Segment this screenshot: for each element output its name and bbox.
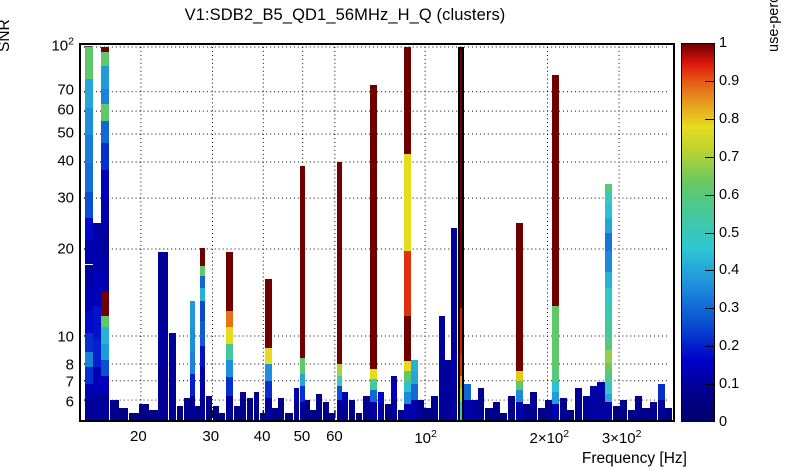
histogram-bar [93, 223, 101, 422]
bar-segment [206, 396, 212, 422]
bar-segment [552, 392, 559, 404]
histogram-bar [478, 388, 485, 422]
bar-segment [552, 75, 559, 305]
x-axis-title: Frequency [Hz] [582, 450, 687, 468]
bar-segment [85, 163, 93, 191]
bar-segment [460, 49, 462, 308]
bar-segment [158, 367, 167, 422]
bar-segment [85, 352, 93, 367]
histogram-bar [129, 413, 139, 422]
histogram-bar [464, 384, 470, 422]
bar-segment [567, 410, 574, 422]
histogram-bar [500, 413, 507, 422]
bar-segment [85, 47, 93, 60]
bar-segment [294, 402, 300, 422]
bar-segment [101, 344, 109, 359]
bar-segment [85, 384, 93, 399]
histogram-bar [206, 396, 212, 422]
bar-segment [93, 394, 101, 422]
bar-segment [226, 344, 233, 359]
page-title: V1:SDB2_B5_QD1_56MHz_H_Q (clusters) [0, 6, 690, 25]
bar-segment [93, 367, 101, 393]
colorbar-tick-label: 0.9 [719, 73, 739, 89]
histogram-bar [620, 400, 627, 422]
histogram-bar [226, 252, 233, 422]
x-axis-tick-label: 50 [294, 428, 311, 445]
histogram-bar [177, 406, 183, 422]
bar-segment [101, 258, 109, 292]
histogram-bar [485, 408, 492, 422]
bar-segment [260, 413, 265, 422]
bar-segment [265, 364, 271, 380]
histogram-bar [378, 392, 385, 422]
histogram-bar [635, 396, 642, 422]
histogram-bar [583, 396, 590, 422]
histogram-bar [272, 408, 278, 422]
bar-segment [605, 337, 612, 350]
bar-segment [605, 402, 612, 422]
colorbar-tick [705, 157, 715, 158]
histogram-bar [613, 406, 620, 422]
bar-segment [597, 382, 604, 397]
bar-segment [101, 89, 109, 104]
bar-segment [85, 218, 93, 239]
histogram-bar [110, 400, 119, 422]
bar-segment [605, 184, 612, 192]
histogram-bar [285, 413, 292, 422]
colorbar-tick-label: 0.8 [719, 111, 739, 127]
bar-segment [190, 352, 195, 373]
bar-segment [460, 402, 462, 422]
bar-segment [85, 108, 93, 135]
bar-segment [628, 410, 635, 422]
histogram-bar [310, 410, 315, 422]
histogram-bar [665, 408, 672, 422]
histogram-bar [119, 408, 128, 422]
bar-segment [478, 388, 485, 422]
colorbar-tick [705, 233, 715, 234]
bar-segment [101, 316, 109, 327]
bar-segment [323, 402, 329, 422]
bar-segment [305, 400, 310, 422]
bar-segment [93, 339, 101, 367]
bar-segment [190, 301, 195, 327]
bar-segment [500, 413, 507, 422]
histogram-bar [294, 388, 300, 422]
x-axis-tick-label: 102 [414, 428, 437, 447]
histogram-bar [149, 410, 158, 422]
colorbar-tick [705, 308, 715, 309]
bar-segment [451, 352, 457, 384]
bar-segment [85, 79, 93, 108]
y-axis-tick-label: 50 [57, 124, 74, 141]
bar-segment [272, 408, 278, 422]
bar-segment [93, 306, 101, 339]
bar-segment [85, 60, 93, 78]
bar-segment [101, 170, 109, 200]
histogram-bar [385, 404, 391, 422]
y-axis-tick-label: 30 [57, 189, 74, 206]
colorbar-tick [705, 384, 715, 385]
bar-segment [169, 333, 176, 353]
x-axis-tick-label: 40 [254, 428, 271, 445]
bar-segment [158, 288, 167, 327]
bar-segment [605, 394, 612, 402]
bar-segment [101, 143, 109, 170]
colorbar-tick [705, 346, 715, 347]
histogram-bar [316, 394, 322, 422]
bar-segment [226, 360, 233, 378]
bar-segment [370, 379, 377, 390]
bar-segment [200, 346, 205, 368]
bar-segment [538, 408, 545, 422]
y-axis-tick-label: 70 [57, 82, 74, 99]
histogram-bar [471, 400, 478, 422]
histogram-bar [342, 392, 348, 422]
bar-segment [605, 306, 612, 322]
bar-segment [329, 413, 335, 422]
histogram-bar [265, 279, 271, 422]
histogram-bar [605, 184, 612, 422]
bar-segment [158, 327, 167, 367]
histogram-bar [458, 47, 464, 422]
bar-segment [226, 252, 233, 310]
histogram-bar [411, 360, 417, 422]
histogram-bar [240, 392, 246, 422]
histogram-bar [247, 398, 253, 422]
bar-segment [337, 162, 343, 365]
colorbar-tick-label: 1 [719, 35, 727, 51]
y-axis-tick-label: 102 [51, 36, 74, 55]
histogram-bar [139, 404, 148, 422]
histogram-bar [300, 166, 305, 422]
y-axis-tick-labels: 10270605040302010876 [28, 0, 74, 472]
histogram-bar [538, 408, 545, 422]
histogram-bar [349, 400, 356, 422]
colorbar-tick-label: 0.4 [719, 262, 739, 278]
bar-segment [101, 66, 109, 89]
bar-segment [460, 376, 462, 388]
bar-segment [552, 404, 559, 422]
bar-segment [642, 408, 649, 422]
colorbar-tick-label: 0.1 [719, 376, 739, 392]
bar-segment [190, 327, 195, 352]
bar-segment [575, 404, 582, 422]
bar-segment [605, 218, 612, 234]
bar-segment [378, 392, 385, 404]
bar-segment [485, 408, 492, 422]
histogram-bar [398, 410, 404, 422]
bar-segment [101, 292, 109, 316]
colorbar-tick [705, 270, 715, 271]
histogram-bar [650, 402, 657, 422]
bar-segment [370, 390, 377, 402]
histogram-bar [184, 398, 190, 422]
bar-segment [316, 394, 322, 422]
colorbar-tick-label: 0.7 [719, 149, 739, 165]
bar-segment [411, 371, 417, 385]
y-axis-tick-label: 60 [57, 101, 74, 118]
bar-segment [200, 248, 205, 266]
plot-canvas: V1:SDB2_B5_QD1_56MHz_H_Q (clusters) SNR … [0, 0, 805, 472]
colorbar-tick-label: 0 [719, 414, 727, 430]
bar-segment [349, 400, 356, 422]
bar-segment [404, 371, 411, 381]
bar-segment [85, 400, 93, 422]
bar-segment [200, 301, 205, 321]
bar-segment [101, 394, 109, 422]
x-axis-tick-label: 3×102 [602, 428, 642, 447]
bar-segment [226, 327, 233, 344]
bar-segment [451, 316, 457, 352]
histogram-bar [424, 408, 430, 422]
histogram-bar [323, 402, 329, 422]
bar-segment [85, 311, 93, 333]
bar-segment [545, 400, 552, 422]
bar-segment [605, 233, 612, 251]
histogram-bar [508, 396, 515, 422]
bar-segment [613, 406, 620, 422]
bar-segment [310, 410, 315, 422]
plot-frame [79, 43, 675, 422]
bar-segment [431, 396, 438, 422]
bar-segment [85, 192, 93, 218]
histogram-bar [370, 85, 377, 422]
bar-segment [169, 352, 176, 384]
bar-segment [404, 381, 411, 392]
bar-segment [605, 288, 612, 306]
bar-segment [605, 374, 612, 384]
bar-segment [605, 363, 612, 374]
bar-segment [265, 398, 271, 422]
bar-segment [451, 384, 457, 422]
colorbar-tick-label: 0.3 [719, 300, 739, 316]
bar-segment [200, 367, 205, 393]
histogram-bar [445, 360, 451, 422]
bar-segment [370, 85, 377, 369]
bar-segment [552, 306, 559, 368]
y-axis-tick-label: 40 [57, 153, 74, 170]
histogram-bar [234, 406, 240, 422]
bar-segment [213, 406, 219, 422]
bar-segment [605, 272, 612, 288]
bar-segment [530, 392, 537, 422]
bar-segment [93, 272, 101, 306]
bar-segment [445, 360, 451, 392]
bar-segment [516, 390, 523, 402]
bar-segment [378, 404, 385, 422]
bar-segment [516, 223, 523, 371]
bar-segment [451, 228, 457, 272]
bar-segment [219, 413, 225, 422]
x-axis-tick-label: 30 [202, 428, 219, 445]
bar-segment [101, 47, 109, 52]
histogram-bar [523, 404, 530, 422]
bar-segment [460, 354, 462, 375]
histogram-bar [329, 413, 335, 422]
bar-segment [342, 392, 348, 404]
histogram-bar [642, 408, 649, 422]
bar-segment [101, 228, 109, 258]
bar-segment [552, 367, 559, 380]
histogram-bar [418, 400, 424, 422]
histogram-bar [590, 386, 597, 422]
histogram-bar [567, 410, 574, 422]
y-axis-tick-label: 6 [66, 393, 74, 410]
bar-segment [129, 413, 139, 422]
bar-segment [226, 377, 233, 395]
bar-segment [85, 367, 93, 384]
bar-segment [101, 52, 109, 66]
bar-segment [404, 47, 411, 154]
bar-segment [658, 400, 665, 422]
x-axis-tick-label: 60 [326, 428, 343, 445]
colorbar-tick [705, 81, 715, 82]
bar-segment [93, 245, 101, 272]
bar-segment [85, 239, 93, 264]
y-axis-tick-label: 10 [57, 329, 74, 346]
histogram-bars [81, 45, 673, 420]
histogram-bar [158, 252, 167, 422]
bar-segment [300, 374, 305, 386]
histogram-bar [575, 388, 582, 422]
bar-segment [445, 392, 451, 422]
bar-segment [552, 381, 559, 392]
histogram-bar [356, 413, 363, 422]
histogram-bar [363, 396, 370, 422]
y-axis-tick-label: 8 [66, 357, 74, 374]
bar-segment [85, 265, 93, 288]
histogram-bar [200, 248, 205, 422]
bar-segment [508, 396, 515, 422]
histogram-bar [597, 382, 604, 422]
bar-segment [101, 360, 109, 376]
bar-segment [451, 272, 457, 316]
bar-segment [439, 316, 445, 352]
bar-segment [337, 376, 343, 387]
bar-segment [411, 384, 417, 399]
histogram-bar [451, 228, 457, 422]
bar-segment [177, 406, 183, 422]
colorbar-title: use-percentage [766, 0, 782, 52]
histogram-bar [545, 400, 552, 422]
bar-segment [158, 252, 167, 287]
histogram-bar [260, 413, 265, 422]
histogram-bar [431, 396, 438, 422]
bar-segment [605, 192, 612, 204]
bar-segment [424, 408, 430, 422]
histogram-bar [530, 392, 537, 422]
bar-segment [583, 396, 590, 422]
y-axis-tick-label: 7 [66, 374, 74, 391]
colorbar-tick-label: 0.6 [719, 187, 739, 203]
bar-segment [404, 404, 411, 422]
bar-segment [398, 410, 404, 422]
bar-segment [363, 396, 370, 422]
bar-segment [101, 104, 109, 121]
bar-segment [391, 400, 397, 422]
bar-segment [404, 316, 411, 361]
x-axis-tick-label: 2×102 [529, 428, 569, 447]
bar-segment [516, 381, 523, 390]
bar-segment [93, 223, 101, 245]
bar-segment [300, 358, 305, 374]
bar-segment [169, 384, 176, 422]
bar-segment [605, 350, 612, 363]
bar-segment [85, 288, 93, 311]
bar-segment [149, 410, 158, 422]
bar-segment [226, 311, 233, 327]
bar-segment [265, 381, 271, 398]
bar-segment [200, 321, 205, 345]
bar-segment [119, 408, 128, 422]
histogram-bar [190, 301, 195, 422]
bar-segment [247, 398, 253, 422]
bar-segment [110, 400, 119, 422]
bar-segment [200, 276, 205, 288]
histogram-bar [493, 402, 500, 422]
bar-segment [560, 398, 567, 422]
histogram-bar [85, 47, 93, 422]
bar-segment [620, 400, 627, 422]
bar-segment [370, 369, 377, 379]
histogram-bar [404, 47, 411, 422]
y-axis-title: SNR [0, 19, 14, 52]
bar-segment [404, 192, 411, 252]
bar-segment [650, 402, 657, 422]
bar-segment [404, 251, 411, 316]
colorbar-tick [705, 119, 715, 120]
bar-segment [190, 374, 195, 396]
histogram-bar [516, 223, 523, 422]
bar-segment [404, 361, 411, 370]
histogram-bar [391, 376, 397, 422]
bar-segment [234, 406, 240, 422]
bar-segment [391, 376, 397, 385]
bar-segment [240, 392, 246, 422]
bar-segment [635, 396, 642, 422]
histogram-bar [219, 413, 225, 422]
x-axis-tick-label: 20 [130, 428, 147, 445]
bar-segment [200, 266, 205, 276]
bar-segment [391, 384, 397, 399]
bar-segment [411, 400, 417, 422]
bar-segment [464, 400, 470, 422]
bar-segment [605, 204, 612, 218]
bar-segment [200, 288, 205, 301]
bar-segment [226, 396, 233, 422]
bar-segment [370, 402, 377, 422]
bar-segment [460, 388, 462, 402]
bar-segment [300, 166, 305, 358]
bar-segment [516, 371, 523, 381]
bar-segment [493, 402, 500, 422]
bar-segment [294, 388, 300, 402]
bar-segment [404, 154, 411, 191]
colorbar-tick [705, 195, 715, 196]
histogram-bar [658, 384, 665, 422]
histogram-bar [169, 333, 176, 422]
bar-segment [597, 398, 604, 422]
bar-segment [605, 384, 612, 393]
colorbar-tick-label: 0.2 [719, 338, 739, 354]
bar-segment [356, 413, 363, 422]
bar-segment [418, 400, 424, 422]
bar-segment [342, 404, 348, 422]
colorbar-tick-label: 0.5 [719, 225, 739, 241]
bar-segment [404, 392, 411, 404]
bar-segment [471, 400, 478, 422]
